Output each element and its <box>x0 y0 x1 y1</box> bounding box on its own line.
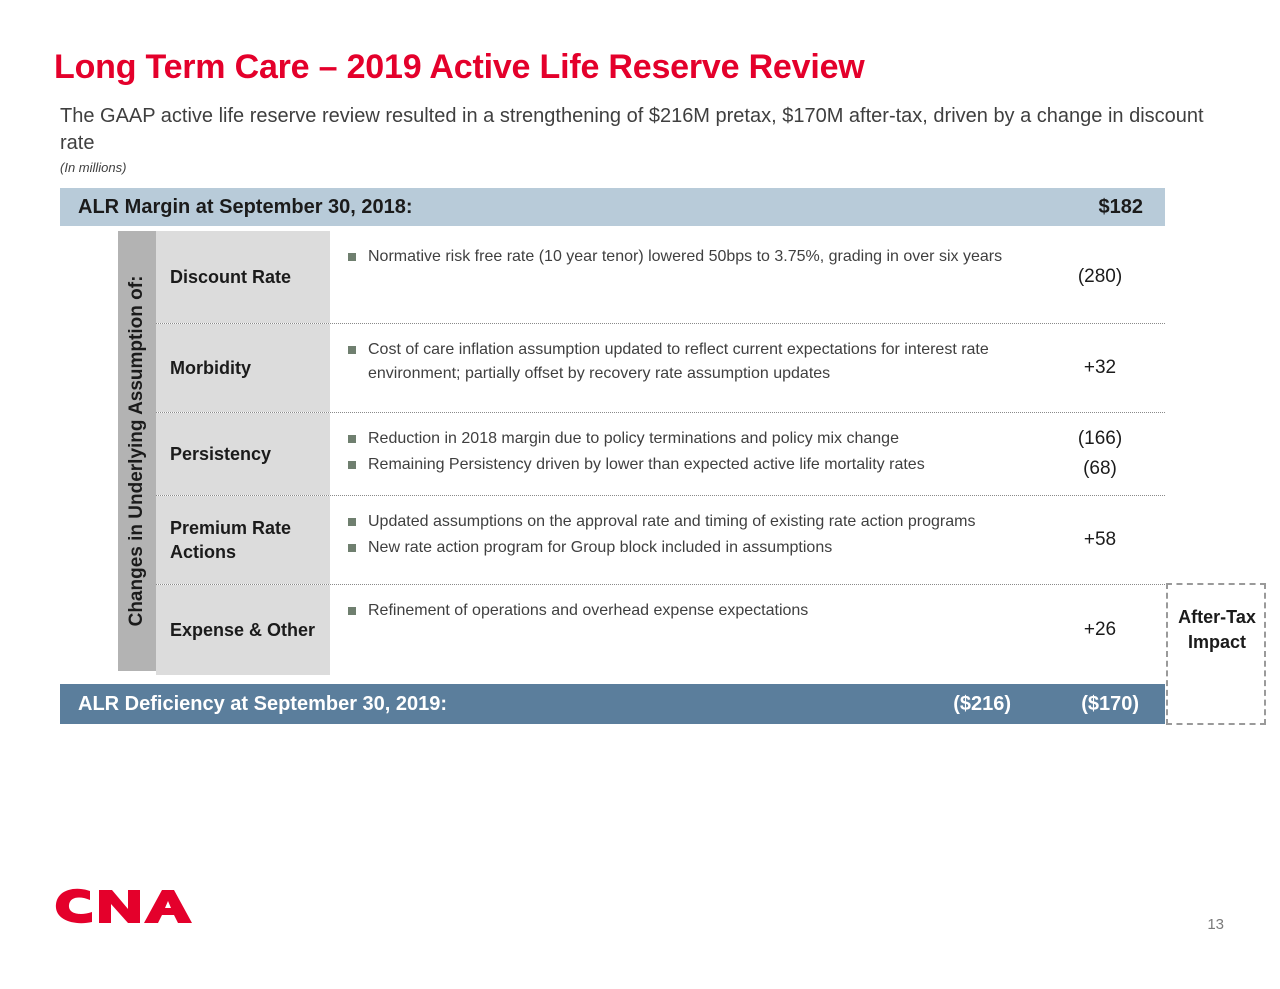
bullet-item: Refinement of operations and overhead ex… <box>348 599 1035 623</box>
alr-deficiency-label: ALR Deficiency at September 30, 2019: <box>78 693 447 716</box>
bullet-item: Reduction in 2018 margin due to policy t… <box>348 427 1035 451</box>
subtitle-text: The GAAP active life reserve review resu… <box>60 103 1220 157</box>
amount-value: +32 <box>1084 353 1116 383</box>
row-category-label: Discount Rate <box>170 265 291 289</box>
row-category: Morbidity <box>156 324 330 412</box>
cna-logo <box>52 884 202 930</box>
bullet-square-icon <box>348 346 356 354</box>
row-bullets: Updated assumptions on the approval rate… <box>330 496 1035 584</box>
amount-value: (166) <box>1078 424 1122 454</box>
amount-value: +26 <box>1084 615 1116 645</box>
table-row: Premium Rate Actions Updated assumptions… <box>156 496 1165 585</box>
bullet-text: New rate action program for Group block … <box>368 536 832 560</box>
row-bullets: Refinement of operations and overhead ex… <box>330 585 1035 675</box>
row-category-label: Persistency <box>170 442 271 466</box>
table-row: Persistency Reduction in 2018 margin due… <box>156 413 1165 496</box>
alr-deficiency-pretax: ($216) <box>953 693 1011 716</box>
alr-deficiency-footer-band: ALR Deficiency at September 30, 2019: ($… <box>60 684 1165 724</box>
after-tax-line1: After-Tax <box>1165 605 1269 630</box>
alr-margin-header-band: ALR Margin at September 30, 2018: $182 <box>60 188 1165 226</box>
row-category: Persistency <box>156 413 330 495</box>
row-category-label: Morbidity <box>170 356 251 380</box>
bullet-text: Updated assumptions on the approval rate… <box>368 510 975 534</box>
amount-value: (68) <box>1083 454 1117 484</box>
row-amounts: +58 <box>1035 496 1165 584</box>
assumption-rows: Discount Rate Normative risk free rate (… <box>156 231 1165 675</box>
row-category: Expense & Other <box>156 585 330 675</box>
bullet-text: Remaining Persistency driven by lower th… <box>368 453 925 477</box>
row-category: Premium Rate Actions <box>156 496 330 584</box>
bullet-text: Refinement of operations and overhead ex… <box>368 599 808 623</box>
table-row: Discount Rate Normative risk free rate (… <box>156 231 1165 324</box>
bullet-square-icon <box>348 518 356 526</box>
alr-margin-value: $182 <box>1099 196 1144 219</box>
amount-value: +58 <box>1084 525 1116 555</box>
bullet-square-icon <box>348 253 356 261</box>
row-bullets: Reduction in 2018 margin due to policy t… <box>330 413 1035 495</box>
alr-deficiency-aftertax: ($170) <box>1081 693 1139 716</box>
bullet-text: Reduction in 2018 margin due to policy t… <box>368 427 899 451</box>
page-number: 13 <box>1207 916 1224 933</box>
bullet-item: Normative risk free rate (10 year tenor)… <box>348 245 1035 269</box>
bullet-item: New rate action program for Group block … <box>348 536 1035 560</box>
vertical-axis-band: Changes in Underlying Assumption of: <box>118 231 156 671</box>
bullet-text: Normative risk free rate (10 year tenor)… <box>368 245 1002 269</box>
units-note: (In millions) <box>60 160 126 175</box>
row-category: Discount Rate <box>156 231 330 323</box>
bullet-square-icon <box>348 435 356 443</box>
row-bullets: Cost of care inflation assumption update… <box>330 324 1035 412</box>
page-title: Long Term Care – 2019 Active Life Reserv… <box>54 48 865 87</box>
row-amounts: +32 <box>1035 324 1165 412</box>
table-row: Morbidity Cost of care inflation assumpt… <box>156 324 1165 413</box>
row-amounts: (280) <box>1035 231 1165 323</box>
after-tax-callout-text: After-Tax Impact <box>1165 605 1269 655</box>
slide: Long Term Care – 2019 Active Life Reserv… <box>0 0 1280 989</box>
amount-value: (280) <box>1078 262 1122 292</box>
bullet-item: Cost of care inflation assumption update… <box>348 338 1035 386</box>
row-amounts: +26 <box>1035 585 1165 675</box>
row-category-label: Premium Rate Actions <box>170 516 330 564</box>
bullet-square-icon <box>348 544 356 552</box>
bullet-square-icon <box>348 461 356 469</box>
row-bullets: Normative risk free rate (10 year tenor)… <box>330 231 1035 323</box>
after-tax-line2: Impact <box>1165 630 1269 655</box>
bullet-text: Cost of care inflation assumption update… <box>368 338 1035 386</box>
row-category-label: Expense & Other <box>170 618 315 642</box>
row-amounts: (166) (68) <box>1035 413 1165 495</box>
alr-margin-label: ALR Margin at September 30, 2018: <box>78 196 413 219</box>
table-row: Expense & Other Refinement of operations… <box>156 585 1165 675</box>
bullet-item: Remaining Persistency driven by lower th… <box>348 453 1035 477</box>
vertical-axis-label: Changes in Underlying Assumption of: <box>126 276 148 627</box>
bullet-item: Updated assumptions on the approval rate… <box>348 510 1035 534</box>
bullet-square-icon <box>348 607 356 615</box>
